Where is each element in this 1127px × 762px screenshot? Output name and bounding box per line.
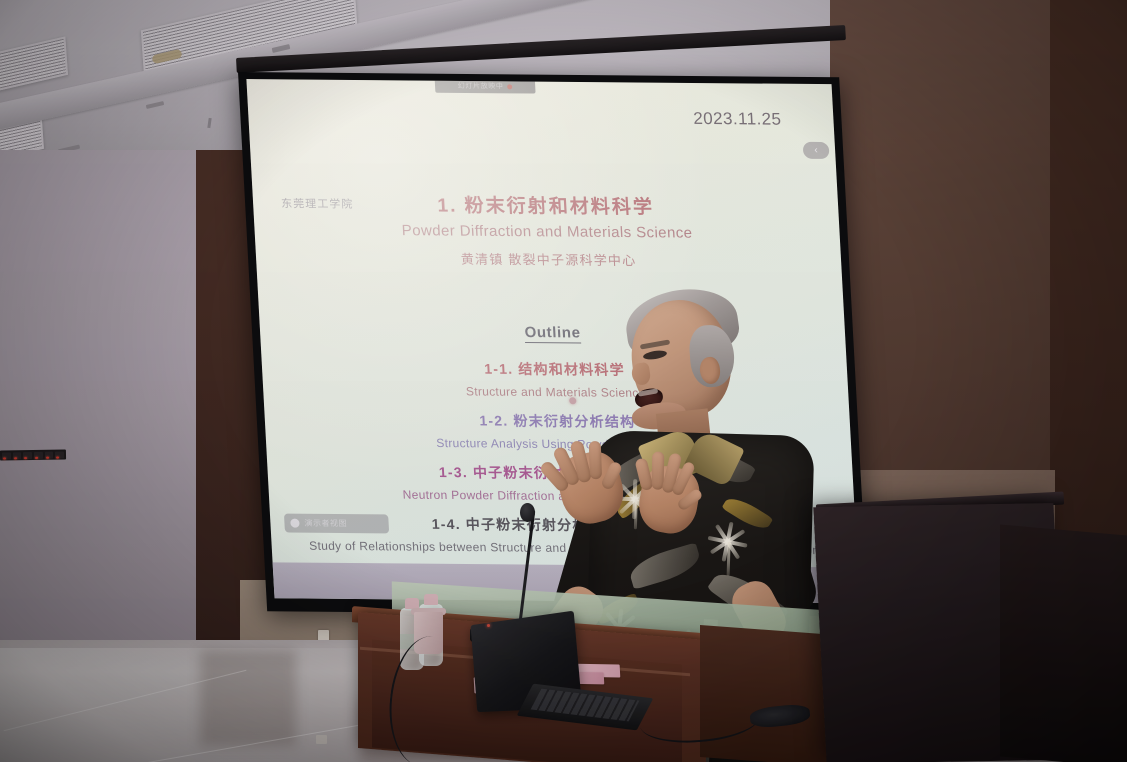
slide-author: 黄清镇 散裂中子源科学中心 xyxy=(255,247,841,271)
presentation-status-overlay: 幻灯片放映中 xyxy=(435,79,536,94)
slide-title-english: Powder Diffraction and Materials Science xyxy=(254,221,840,243)
lecture-hall-photo: 东莞理工学院 2023.11.25 1. 粉末衍射和材料科学 Powder Di… xyxy=(0,0,1127,762)
finger xyxy=(589,441,602,479)
light-switch-panel[interactable] xyxy=(0,449,66,460)
lectern-side-panel xyxy=(1000,524,1127,762)
presenter-view-label: 演示者视图 xyxy=(304,518,347,529)
floor-reflection xyxy=(200,650,296,746)
light-switch[interactable] xyxy=(55,451,64,458)
slide-date: 2023.11.25 xyxy=(693,109,782,130)
wall-outlet-reflection xyxy=(316,735,327,744)
slide-prev-button[interactable]: ‹ xyxy=(803,142,830,159)
light-switch[interactable] xyxy=(2,452,11,459)
presentation-status-text: 幻灯片放映中 xyxy=(457,81,503,91)
light-switch[interactable] xyxy=(13,452,22,459)
palm-trunk xyxy=(634,499,638,529)
light-switch[interactable] xyxy=(34,451,43,458)
recording-dot-icon xyxy=(507,84,512,89)
presenter-badge-icon xyxy=(290,519,300,528)
presenter-view-badge[interactable]: 演示者视图 xyxy=(284,514,389,534)
slide-title-chinese: 1. 粉末衍射和材料科学 xyxy=(252,189,839,221)
left-wall xyxy=(0,150,196,670)
light-switch[interactable] xyxy=(45,451,54,458)
podium-side-box xyxy=(700,625,836,762)
light-switch[interactable] xyxy=(23,452,32,459)
laptop-indicator-light xyxy=(487,624,490,627)
chevron-left-icon: ‹ xyxy=(814,145,818,156)
microphone-capsule-icon xyxy=(520,503,535,522)
shirt-leaf xyxy=(626,542,703,589)
palm-trunk xyxy=(727,542,731,576)
thumb xyxy=(600,460,623,490)
